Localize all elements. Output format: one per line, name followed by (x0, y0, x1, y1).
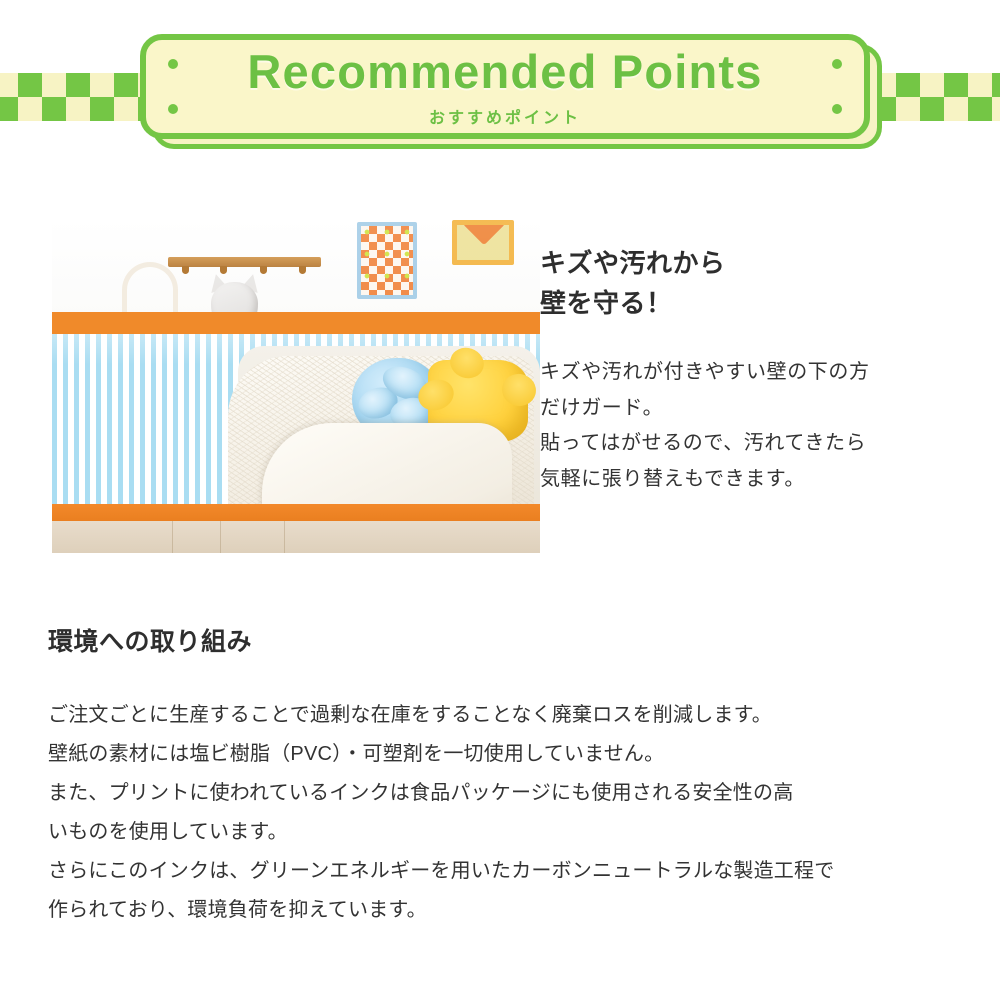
floor (52, 521, 540, 553)
peg-rail (168, 257, 321, 267)
eco-body-text: ご注文ごとに生産することで過剰な在庫をすることなく廃棄ロスを削減します。 壁紙の… (48, 696, 968, 930)
framed-art-yellow (452, 220, 514, 265)
feature-photo (52, 218, 540, 553)
eco-heading: 環境への取り組み (48, 622, 968, 658)
feature-heading: キズや汚れから 壁を守る！ (540, 244, 968, 323)
feature-text-column: キズや汚れから 壁を守る！ キズや汚れが付きやすい壁の下の方 だけガード。 貼っ… (540, 244, 968, 497)
peg-1-icon (182, 266, 189, 274)
framed-art-yellow-shape (463, 220, 505, 245)
baseboard (52, 504, 540, 521)
eco-section: 環境への取り組み ご注文ごとに生産することで過剰な在庫をすることなく廃棄ロスを削… (48, 622, 968, 930)
floor-seam-2 (220, 521, 221, 553)
header-banner: Recommended Points おすすめポイント (0, 0, 1000, 175)
banner-card: Recommended Points おすすめポイント (140, 34, 870, 139)
page-root: Recommended Points おすすめポイント (0, 0, 1000, 1000)
floor-seam-3 (284, 521, 285, 553)
peg-4-icon (299, 266, 306, 274)
framed-art-checker-dots (361, 226, 413, 295)
banner-dot-bottom-right-icon (832, 104, 842, 114)
framed-art-checker (357, 222, 417, 299)
feature-body-text: キズや汚れが付きやすい壁の下の方 だけガード。 貼ってはがせるので、汚れてきたら… (540, 355, 968, 497)
banner-dot-top-right-icon (832, 59, 842, 69)
banner-subtitle: おすすめポイント (429, 104, 581, 128)
floor-seam-1 (172, 521, 173, 553)
banner-title: Recommended Points (247, 48, 762, 95)
banner-dot-bottom-left-icon (168, 104, 178, 114)
banner-dot-top-left-icon (168, 59, 178, 69)
